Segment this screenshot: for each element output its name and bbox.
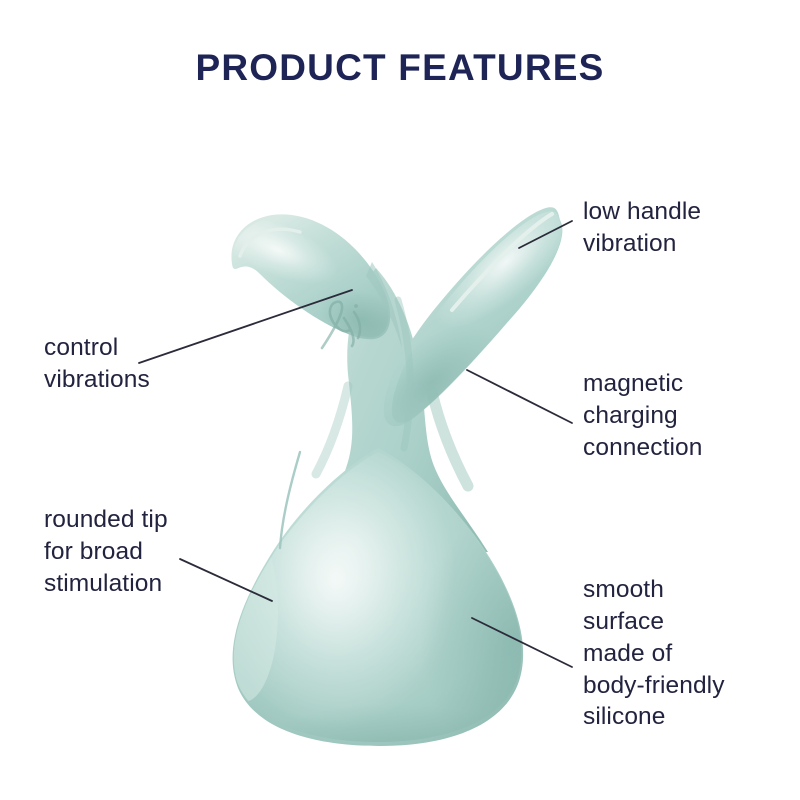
leader-line-magnetic-charging-connection	[467, 370, 572, 423]
waist-shadow-right	[432, 392, 468, 486]
callout-control-vibrations: control vibrations	[44, 332, 259, 396]
waist-shadow-left	[316, 386, 348, 474]
callout-smooth-surface-silicone: smooth surface made of body-friendly sil…	[583, 574, 798, 733]
callout-magnetic-charging-connection: magnetic charging connection	[583, 368, 798, 464]
product-silhouette	[209, 175, 604, 800]
callout-rounded-tip-broad-stimulation: rounded tip for broad stimulation	[44, 504, 259, 600]
product-features-infographic: PRODUCT FEATURES	[0, 0, 800, 800]
callout-low-handle-vibration: low handle vibration	[583, 196, 798, 260]
